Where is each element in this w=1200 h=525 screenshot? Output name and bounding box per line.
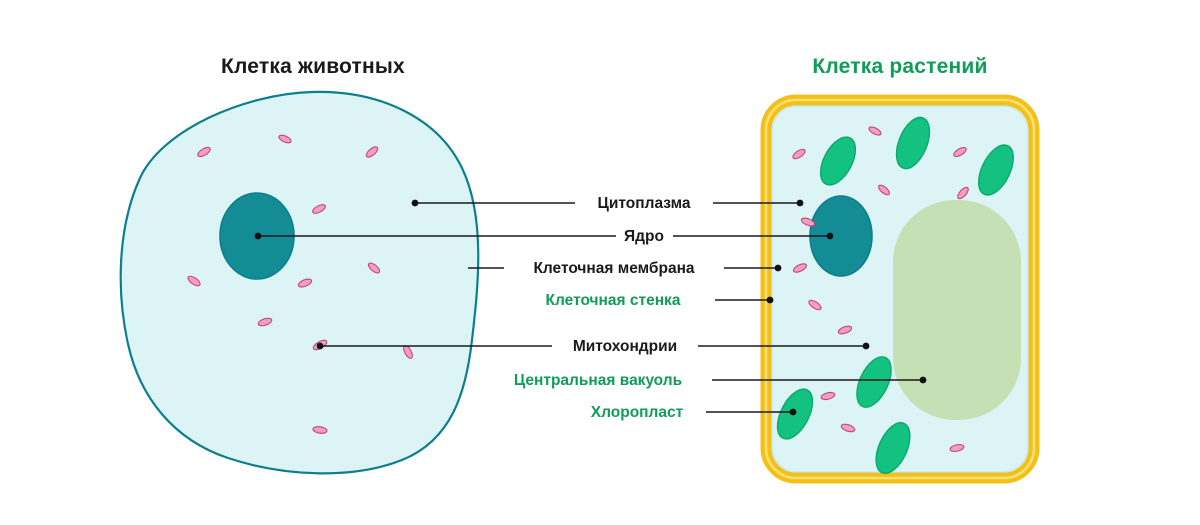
plant-cell-central-vacuole xyxy=(893,200,1021,420)
cell-comparison-diagram: Клетка животных Клетка растений Цитоплаз… xyxy=(0,0,1200,525)
plant-cell-group xyxy=(766,100,1034,478)
animal-cell-title: Клетка животных xyxy=(221,55,405,78)
label-chloroplast: Хлоропласт xyxy=(591,404,684,421)
diagram-canvas: Клетка животных Клетка растений Цитоплаз… xyxy=(0,0,1200,525)
label-cytoplasm: Цитоплазма xyxy=(598,195,691,212)
label-nucleus: Ядро xyxy=(624,228,664,245)
label-mitochondria: Митохондрии xyxy=(573,338,677,355)
plant-cell-title: Клетка растений xyxy=(812,55,987,78)
animal-cell-group xyxy=(121,92,479,473)
label-central-vacuole: Центральная вакуоль xyxy=(514,372,682,389)
label-cell-membrane: Клеточная мембрана xyxy=(533,260,694,277)
label-cell-wall: Клеточная стенка xyxy=(546,292,681,309)
